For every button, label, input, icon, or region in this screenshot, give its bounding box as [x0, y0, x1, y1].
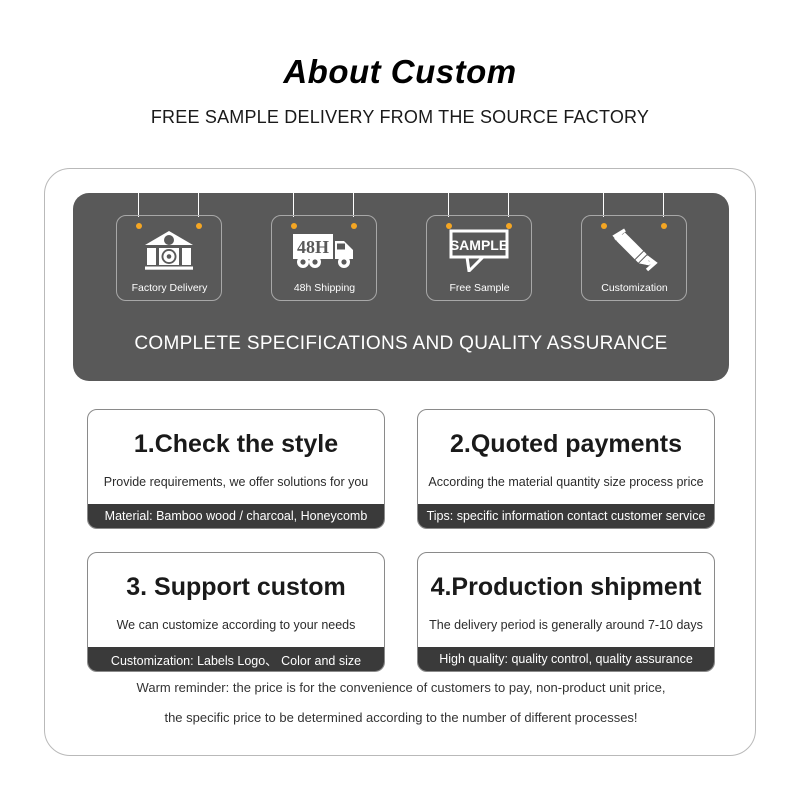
warm-reminder-line-2: the specific price to be determined acco… — [45, 703, 757, 733]
svg-text:48H: 48H — [296, 237, 328, 257]
plaque-label: 48h Shipping — [272, 282, 378, 294]
step-card-3[interactable]: 3. Support custom We can customize accor… — [87, 552, 385, 672]
string-left — [138, 193, 140, 217]
hanger-dot-left-icon — [136, 223, 142, 229]
plaque-body: Factory Delivery — [116, 215, 222, 301]
step-title: 2.Quoted payments — [418, 430, 714, 459]
step-title: 3. Support custom — [88, 573, 384, 602]
pencil-edit-icon — [609, 228, 659, 272]
step-footer-bar: High quality: quality control, quality a… — [418, 647, 714, 671]
sample-tag-icon: SAMPLE — [449, 228, 509, 272]
hanger-dot-right-icon — [196, 223, 202, 229]
plaque-label: Free Sample — [427, 282, 533, 294]
page-title: About Custom — [0, 54, 800, 90]
plaque-body: Customization — [581, 215, 687, 301]
plaque-strings — [426, 193, 532, 217]
hanger-dot-right-icon — [506, 223, 512, 229]
string-right — [663, 193, 665, 217]
plaque-strings — [116, 193, 222, 217]
hanging-plaque-48h-shipping[interactable]: 48H 48h Shipping — [271, 215, 377, 301]
step-footer-bar: Tips: specific information contact custo… — [418, 504, 714, 528]
banner-caption: COMPLETE SPECIFICATIONS AND QUALITY ASSU… — [73, 333, 729, 355]
content-panel: Factory Delivery — [44, 168, 756, 756]
warm-reminder-line-1: Warm reminder: the price is for the conv… — [45, 673, 757, 703]
step-card-4[interactable]: 4.Production shipment The delivery perio… — [417, 552, 715, 672]
features-banner: Factory Delivery — [73, 193, 729, 381]
plaque-strings — [581, 193, 687, 217]
step-card-1[interactable]: 1.Check the style Provide requirements, … — [87, 409, 385, 529]
page-header: About Custom FREE SAMPLE DELIVERY FROM T… — [0, 54, 800, 128]
step-title: 4.Production shipment — [418, 573, 714, 602]
hanger-dot-left-icon — [446, 223, 452, 229]
step-footer-bar: Material: Bamboo wood / charcoal, Honeyc… — [88, 504, 384, 528]
hanging-plaque-row: Factory Delivery — [73, 193, 729, 313]
string-left — [448, 193, 450, 217]
delivery-truck-48h-icon: 48H — [292, 228, 356, 272]
plaque-label: Customization — [582, 282, 688, 294]
step-card-2[interactable]: 2.Quoted payments According the material… — [417, 409, 715, 529]
hanging-plaque-customization[interactable]: Customization — [581, 215, 687, 301]
step-description: We can customize according to your needs — [88, 602, 384, 647]
step-footer-bar: Customization: Labels Logo、 Color and si… — [88, 647, 384, 671]
hanger-dot-left-icon — [291, 223, 297, 229]
plaque-strings — [271, 193, 377, 217]
step-description: According the material quantity size pro… — [418, 459, 714, 504]
string-right — [353, 193, 355, 217]
plaque-label: Factory Delivery — [117, 282, 223, 294]
plaque-body: 48H 48h Shipping — [271, 215, 377, 301]
plaque-body: SAMPLE Free Sample — [426, 215, 532, 301]
hanging-plaque-free-sample[interactable]: SAMPLE Free Sample — [426, 215, 532, 301]
string-left — [603, 193, 605, 217]
string-left — [293, 193, 295, 217]
step-description: Provide requirements, we offer solutions… — [88, 459, 384, 504]
hanger-dot-left-icon — [601, 223, 607, 229]
hanger-dot-right-icon — [661, 223, 667, 229]
about-custom-infographic: About Custom FREE SAMPLE DELIVERY FROM T… — [0, 0, 800, 800]
hanger-dot-right-icon — [351, 223, 357, 229]
page-subtitle: FREE SAMPLE DELIVERY FROM THE SOURCE FAC… — [0, 107, 800, 128]
factory-building-icon — [143, 228, 195, 272]
steps-grid: 1.Check the style Provide requirements, … — [87, 409, 715, 672]
string-right — [198, 193, 200, 217]
step-title: 1.Check the style — [88, 430, 384, 459]
svg-text:SAMPLE: SAMPLE — [449, 237, 507, 253]
warm-reminder-note: Warm reminder: the price is for the conv… — [45, 673, 757, 733]
step-description: The delivery period is generally around … — [418, 602, 714, 647]
hanging-plaque-factory-delivery[interactable]: Factory Delivery — [116, 215, 222, 301]
string-right — [508, 193, 510, 217]
